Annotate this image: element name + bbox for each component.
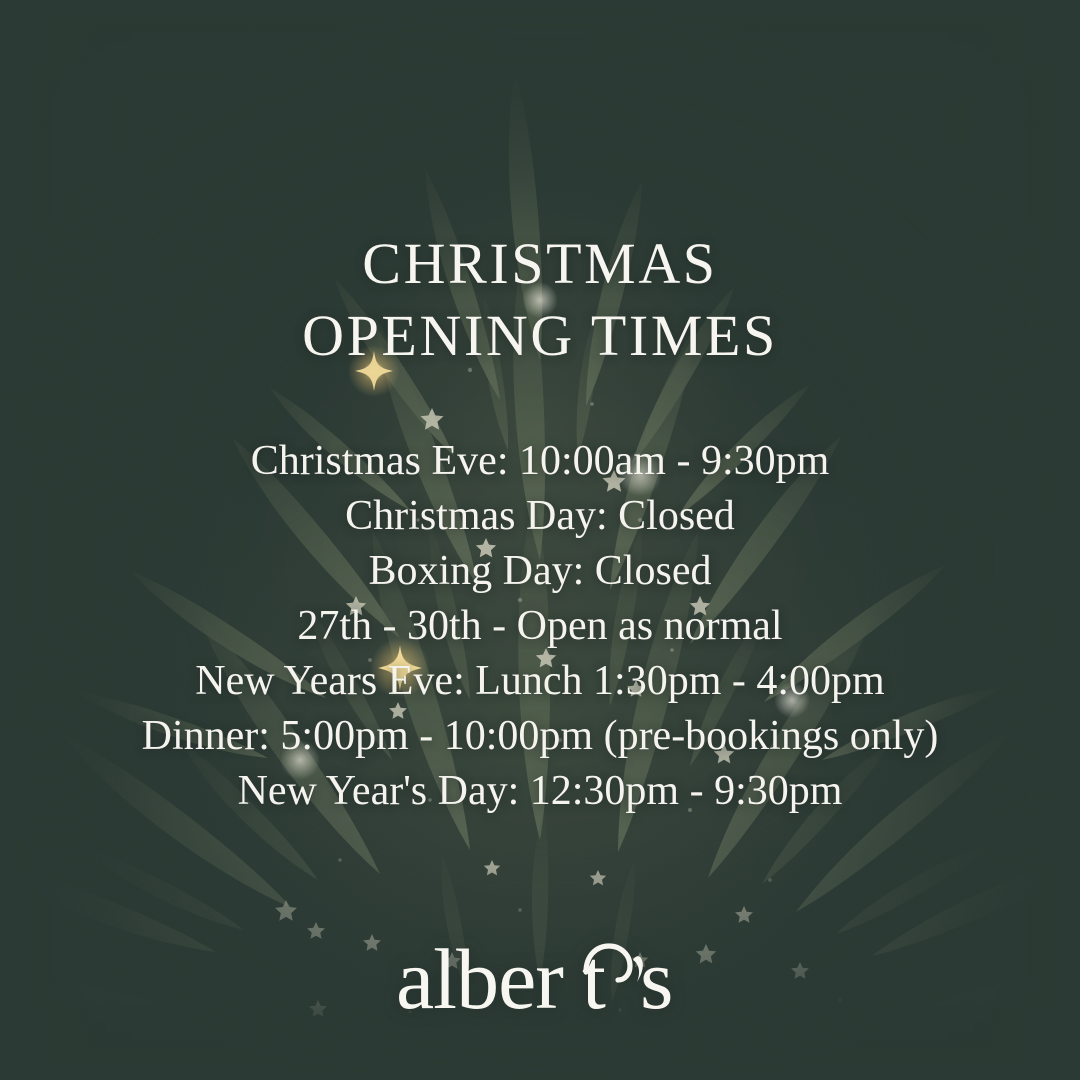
poster-canvas: CHRISTMAS OPENING TIMES Christmas Eve: 1…: [0, 0, 1080, 1080]
list-item: Dinner: 5:00pm - 10:00pm (pre-bookings o…: [142, 709, 939, 764]
poster-content: CHRISTMAS OPENING TIMES Christmas Eve: 1…: [0, 0, 1080, 1080]
page-title: CHRISTMAS OPENING TIMES: [302, 0, 778, 372]
brand-logo-alberts: alber t s: [0, 920, 1080, 1040]
brand-logo-text-s: s: [640, 931, 672, 1027]
list-item: New Years Eve: Lunch 1:30pm - 4:00pm: [142, 654, 939, 709]
list-item: Christmas Eve: 10:00am - 9:30pm: [142, 434, 939, 489]
list-item: Boxing Day: Closed: [142, 544, 939, 599]
list-item: New Year's Day: 12:30pm - 9:30pm: [142, 764, 939, 819]
list-item: 27th - 30th - Open as normal: [142, 599, 939, 654]
list-item: Christmas Day: Closed: [142, 489, 939, 544]
brand-logo-text-t: t: [582, 931, 606, 1027]
opening-times-list: Christmas Eve: 10:00am - 9:30pm Christma…: [142, 434, 939, 819]
brand-logo-text-alber: alber: [396, 931, 563, 1027]
headline-line-1: CHRISTMAS: [302, 228, 778, 300]
headline-line-2: OPENING TIMES: [302, 300, 778, 372]
